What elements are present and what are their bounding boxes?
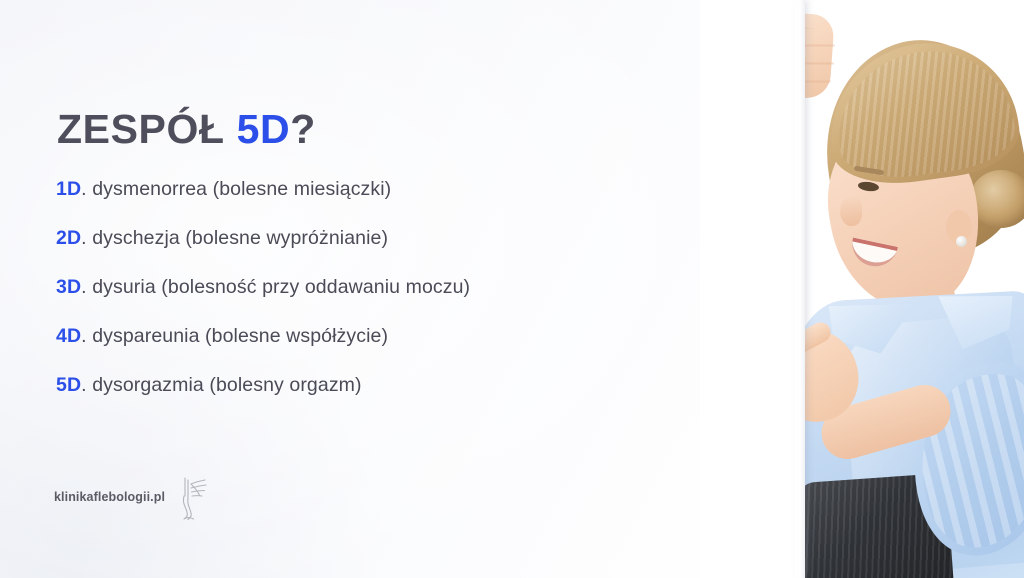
list-item-separator: . (81, 227, 87, 249)
list-item: 4D. dyspareunia (bolesne współżycie) (56, 325, 756, 348)
page-title: ZESPÓŁ 5D? (57, 109, 316, 150)
list-item-text: dysmenorrea (bolesne miesiączki) (92, 178, 391, 200)
list-item-separator: . (81, 374, 87, 396)
list-item-key: 4D (56, 325, 81, 347)
list-item: 3D. dysuria (bolesność przy oddawaniu mo… (56, 276, 756, 299)
list-item-key: 3D (56, 276, 81, 298)
title-word-accent: 5D (237, 106, 291, 152)
list-item-text: dyschezja (bolesne wypróżnianie) (92, 227, 388, 249)
list-item-text: dysorgazmia (bolesny orgazm) (92, 374, 361, 396)
list-item-separator: . (81, 325, 87, 347)
slide-canvas: ZESPÓŁ 5D? 1D. dysmenorrea (bolesne mies… (0, 0, 1024, 578)
title-question-mark: ? (290, 106, 316, 152)
symptom-list: 1D. dysmenorrea (bolesne miesiączki) 2D.… (56, 178, 756, 397)
logo-wordmark: klinikaflebologii.pl (54, 490, 165, 504)
board-overlap-mask (700, 0, 802, 578)
white-board-edge (795, 0, 805, 578)
list-item: 2D. dyschezja (bolesne wypróżnianie) (56, 227, 756, 250)
winged-leg-icon (175, 474, 209, 520)
presenter-photo (700, 0, 1024, 578)
list-item-key: 1D (56, 178, 81, 200)
list-item-separator: . (81, 276, 87, 298)
list-item-key: 5D (56, 374, 81, 396)
title-word-dark: ZESPÓŁ (57, 106, 225, 152)
list-item: 1D. dysmenorrea (bolesne miesiączki) (56, 178, 756, 201)
list-item-text: dysuria (bolesność przy oddawaniu moczu) (92, 276, 470, 298)
list-item-separator: . (81, 178, 87, 200)
brand-logo: klinikaflebologii.pl (54, 474, 209, 520)
list-item-key: 2D (56, 227, 81, 249)
pearl-earring-icon (956, 236, 967, 247)
list-item: 5D. dysorgazmia (bolesny orgazm) (56, 374, 756, 397)
list-item-text: dyspareunia (bolesne współżycie) (92, 325, 388, 347)
